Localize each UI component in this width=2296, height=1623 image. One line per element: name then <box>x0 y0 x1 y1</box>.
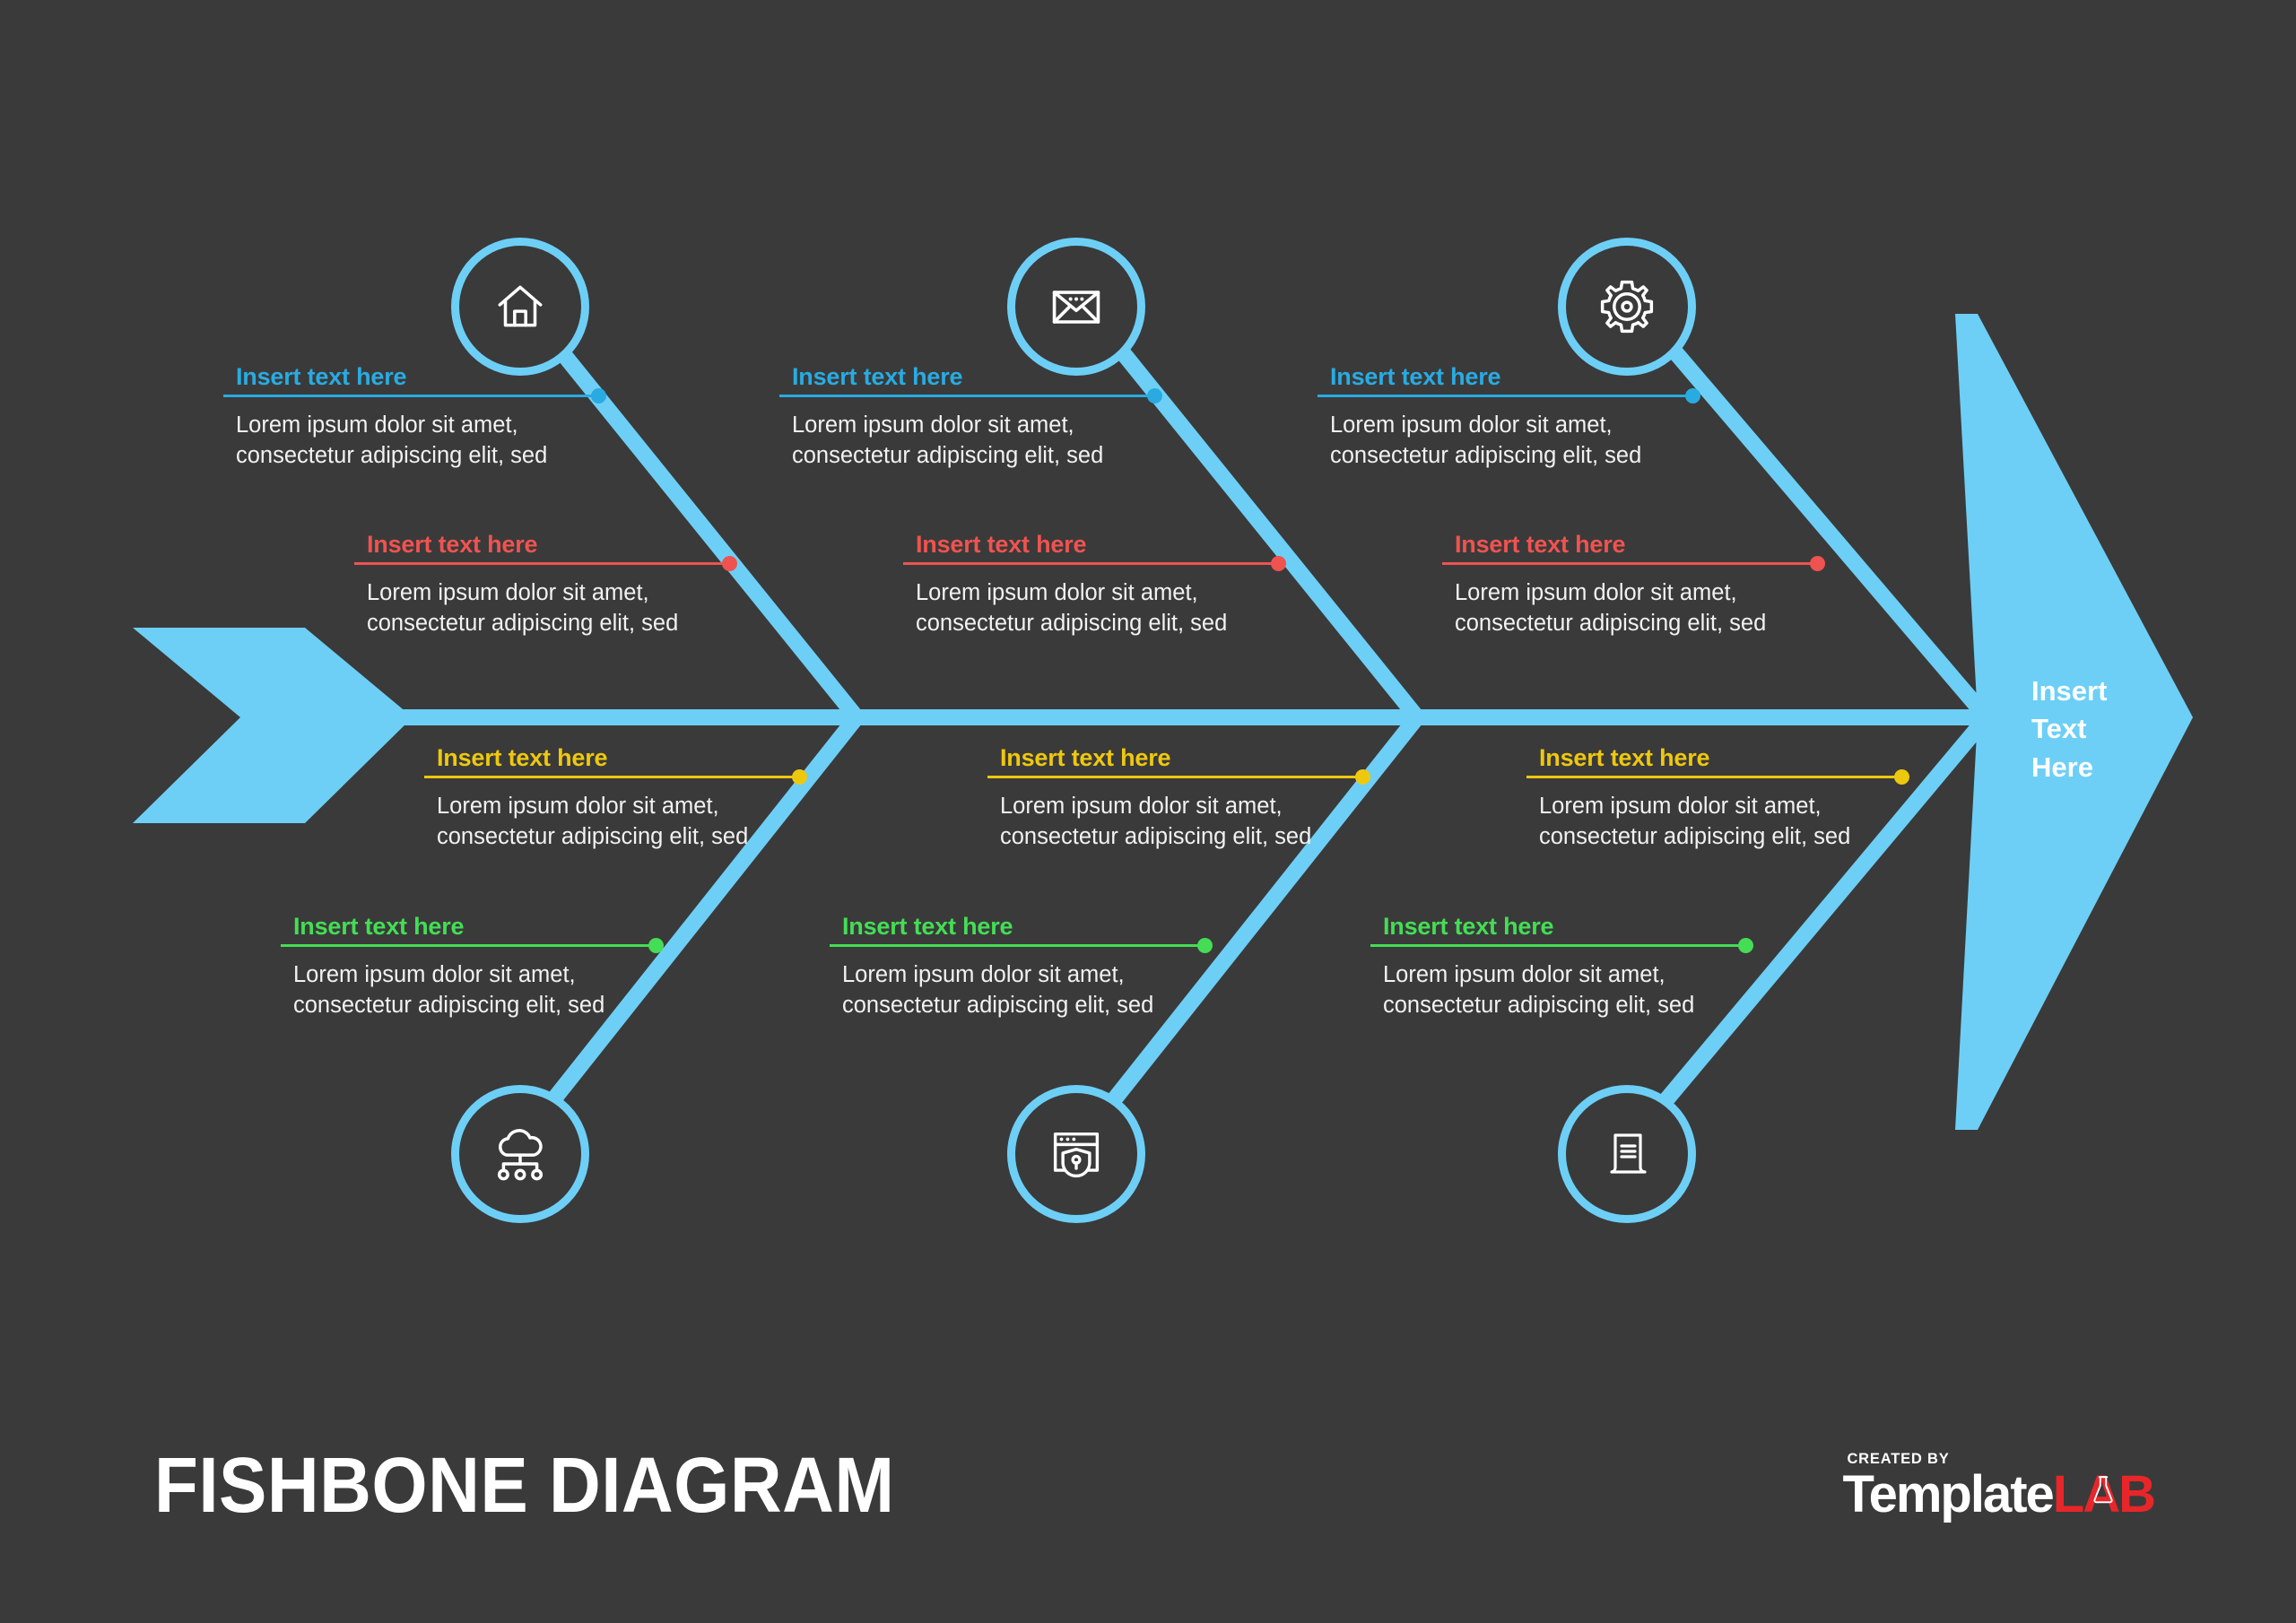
callout-red-2[interactable]: Insert text here Lorem ipsum dolor sit a… <box>903 531 1280 638</box>
page-title: FISHBONE DIAGRAM <box>154 1441 895 1531</box>
callout-rule <box>987 776 1364 778</box>
callout-cyan-3[interactable]: Insert text here Lorem ipsum dolor sit a… <box>1318 363 1694 471</box>
head-arrow-line-1: Insert <box>2031 673 2211 710</box>
callout-red-1[interactable]: Insert text here Lorem ipsum dolor sit a… <box>354 531 731 638</box>
callout-body: Lorem ipsum dolor sit amet, consectetur … <box>1318 410 1694 471</box>
cloud-network-icon <box>489 1123 552 1185</box>
callout-rule-dot <box>591 388 606 404</box>
callout-rule <box>779 395 1156 397</box>
node-browser-shield[interactable] <box>1007 1085 1145 1223</box>
brand-template-text: Template <box>1842 1469 2052 1521</box>
callout-rule-bar <box>354 562 731 565</box>
callout-rule-dot <box>792 769 807 785</box>
callout-rule-bar <box>987 776 1364 778</box>
callout-rule-bar <box>223 395 600 397</box>
callout-rule-bar <box>779 395 1156 397</box>
callout-rule-bar <box>1370 944 1747 947</box>
callout-body: Lorem ipsum dolor sit amet, consectetur … <box>779 410 1156 471</box>
callout-rule-bar <box>903 562 1280 565</box>
node-envelope[interactable] <box>1007 238 1145 376</box>
head-arrow-line-3: Here <box>2031 749 2211 786</box>
bone-upper-3 <box>1650 323 1987 717</box>
callout-rule <box>1318 395 1694 397</box>
callout-rule-bar <box>281 944 657 947</box>
callout-rule-dot <box>1738 938 1753 953</box>
callout-heading: Insert text here <box>1370 913 1747 941</box>
callout-body: Lorem ipsum dolor sit amet, consectetur … <box>354 577 731 638</box>
callout-body: Lorem ipsum dolor sit amet, consectetur … <box>1370 959 1747 1020</box>
callout-green-3[interactable]: Insert text here Lorem ipsum dolor sit a… <box>1370 913 1747 1020</box>
fish-spine <box>269 709 2000 725</box>
callout-heading: Insert text here <box>1318 363 1694 391</box>
callout-body: Lorem ipsum dolor sit amet, consectetur … <box>1526 791 1903 852</box>
envelope-icon <box>1046 276 1107 337</box>
callout-rule-bar <box>1318 395 1694 397</box>
node-gear[interactable] <box>1558 238 1696 376</box>
callout-cyan-1[interactable]: Insert text here Lorem ipsum dolor sit a… <box>223 363 600 471</box>
callout-yellow-2[interactable]: Insert text here Lorem ipsum dolor sit a… <box>987 744 1364 852</box>
callout-rule <box>830 944 1206 947</box>
callout-rule-dot <box>1894 769 1909 785</box>
callout-rule-dot <box>1810 556 1825 571</box>
callout-body: Lorem ipsum dolor sit amet, consectetur … <box>281 959 657 1020</box>
callout-rule <box>281 944 657 947</box>
brand-wordmark: Template LAB <box>1842 1469 2154 1521</box>
callout-red-3[interactable]: Insert text here Lorem ipsum dolor sit a… <box>1442 531 1819 638</box>
gear-icon <box>1596 275 1658 338</box>
callout-heading: Insert text here <box>281 913 657 941</box>
callout-rule <box>1442 562 1819 565</box>
callout-green-2[interactable]: Insert text here Lorem ipsum dolor sit a… <box>830 913 1206 1020</box>
head-arrow-line-2: Text <box>2031 710 2211 748</box>
callout-rule-dot <box>1685 388 1700 404</box>
callout-body: Lorem ipsum dolor sit amet, consectetur … <box>987 791 1364 852</box>
callout-cyan-2[interactable]: Insert text here Lorem ipsum dolor sit a… <box>779 363 1156 471</box>
callout-heading: Insert text here <box>830 913 1206 941</box>
callout-rule <box>424 776 801 778</box>
callout-rule <box>1526 776 1903 778</box>
callout-rule <box>223 395 600 397</box>
callout-rule-dot <box>1147 388 1162 404</box>
fish-head-arrow-upper <box>1955 314 2193 717</box>
callout-rule-bar <box>1442 562 1819 565</box>
callout-body: Lorem ipsum dolor sit amet, consectetur … <box>424 791 801 852</box>
fishbone-diagram-page: Insert Text Here <box>0 0 2296 1623</box>
callout-rule <box>354 562 731 565</box>
callout-rule <box>1370 944 1747 947</box>
callout-heading: Insert text here <box>424 744 801 772</box>
flask-icon <box>2092 1474 2115 1505</box>
callout-body: Lorem ipsum dolor sit amet, consectetur … <box>903 577 1280 638</box>
callout-heading: Insert text here <box>1442 531 1819 559</box>
callout-heading: Insert text here <box>354 531 731 559</box>
browser-shield-icon <box>1046 1124 1107 1185</box>
callout-rule-dot <box>648 938 664 953</box>
callout-green-1[interactable]: Insert text here Lorem ipsum dolor sit a… <box>281 913 657 1020</box>
callout-rule-bar <box>424 776 801 778</box>
node-home[interactable] <box>451 238 589 376</box>
upper-bones <box>538 323 1987 717</box>
document-icon <box>1598 1125 1656 1183</box>
home-icon <box>491 277 550 336</box>
callout-rule-dot <box>1197 938 1213 953</box>
head-arrow-label: Insert Text Here <box>2031 673 2211 786</box>
node-cloud-network[interactable] <box>451 1085 589 1223</box>
templatelab-logo: CREATED BY Template LAB <box>1842 1452 2154 1521</box>
brand-lab-text: LAB <box>2053 1469 2154 1521</box>
callout-heading: Insert text here <box>903 531 1280 559</box>
callout-yellow-3[interactable]: Insert text here Lorem ipsum dolor sit a… <box>1526 744 1903 852</box>
node-document[interactable] <box>1558 1085 1696 1223</box>
callout-body: Lorem ipsum dolor sit amet, consectetur … <box>223 410 600 471</box>
callout-rule-bar <box>1526 776 1903 778</box>
callout-rule-dot <box>1271 556 1286 571</box>
callout-body: Lorem ipsum dolor sit amet, consectetur … <box>1442 577 1819 638</box>
callout-heading: Insert text here <box>223 363 600 391</box>
callout-yellow-1[interactable]: Insert text here Lorem ipsum dolor sit a… <box>424 744 801 852</box>
callout-rule <box>903 562 1280 565</box>
callout-body: Lorem ipsum dolor sit amet, consectetur … <box>830 959 1206 1020</box>
callout-rule-dot <box>1355 769 1370 785</box>
callout-rule-bar <box>830 944 1206 947</box>
callout-rule-dot <box>722 556 737 571</box>
callout-heading: Insert text here <box>987 744 1364 772</box>
callout-heading: Insert text here <box>779 363 1156 391</box>
callout-heading: Insert text here <box>1526 744 1903 772</box>
